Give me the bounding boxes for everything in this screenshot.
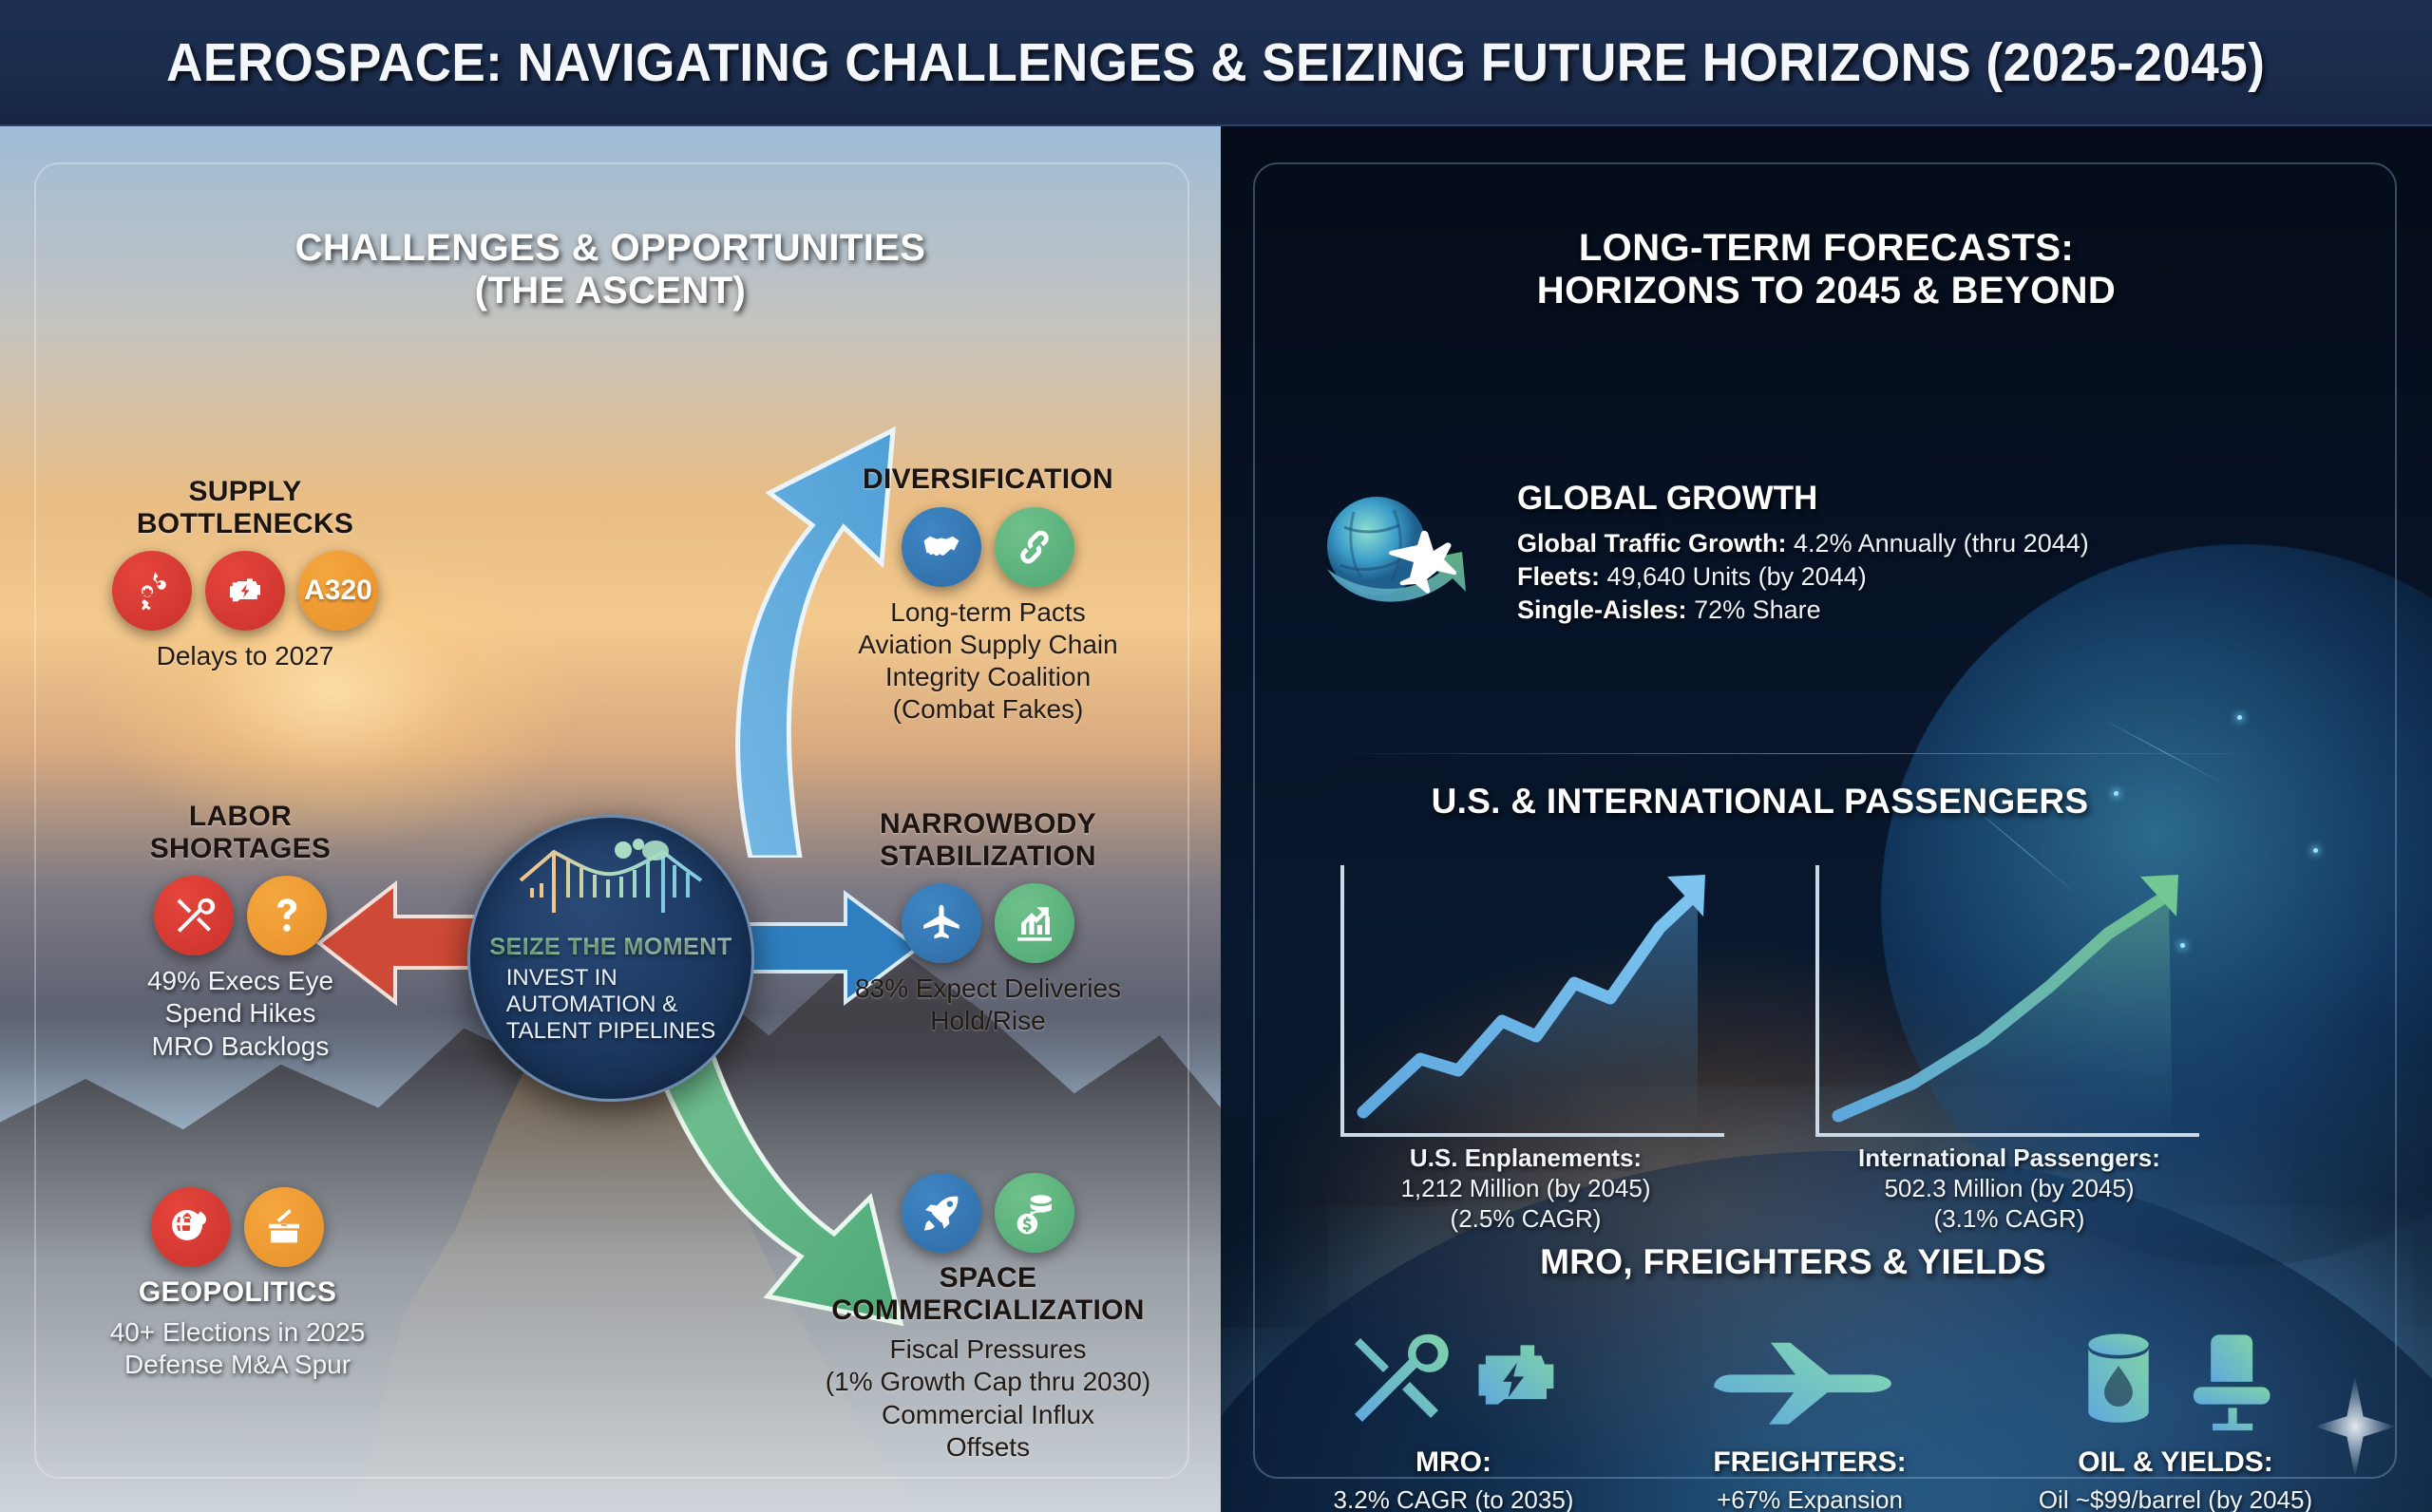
stat-single-aisles: Single-Aisles: 72% Share: [1517, 594, 2089, 627]
supply-bottlenecks-text: Delays to 2027: [46, 640, 445, 672]
stat-global-traffic-growth: Global Traffic Growth: 4.2% Annually (th…: [1517, 527, 2089, 560]
supply-bottlenecks-icons: A320: [46, 551, 445, 631]
right-panel: LONG-TERM FORECASTS: HORIZONS TO 2045 & …: [1221, 126, 2432, 1512]
oil-barrel-icon: [2065, 1327, 2172, 1433]
cargo-airplane-icon: [1703, 1327, 1916, 1433]
international-passengers-chart: [1800, 858, 2209, 1171]
us-enplanements-chart: [1325, 858, 1734, 1171]
right-panel-heading: LONG-TERM FORECASTS: HORIZONS TO 2045 & …: [1221, 227, 2432, 312]
block-diversification: DIVERSIFICATION Long-term Pacts Aviation…: [817, 463, 1159, 726]
right-heading-line1: LONG-TERM FORECASTS:: [1221, 227, 2432, 270]
header-bar: AEROSPACE: NAVIGATING CHALLENGES & SEIZI…: [0, 0, 2432, 126]
narrowbody-text: 83% Expect Deliveries Hold/Rise: [817, 973, 1159, 1037]
global-growth-stats: GLOBAL GROWTH Global Traffic Growth: 4.2…: [1517, 480, 2089, 627]
diversification-title: DIVERSIFICATION: [817, 463, 1159, 496]
globe-airplane-growth-icon: [1316, 478, 1496, 639]
oil-yields-icons: [2019, 1314, 2332, 1446]
mro-title: MRO:: [1297, 1446, 1610, 1479]
airplane-icon: [902, 883, 981, 963]
oil-yields-text: Oil ~$99/barrel (by 2045) Load Factors ~…: [2019, 1484, 2332, 1512]
handshake-icon: [902, 507, 981, 587]
block-labor-shortages: LABOR SHORTAGES 49% Execs Eye Spend Hike…: [36, 801, 445, 1063]
column-oil-yields: OIL & YIELDS: Oil ~$99/barrel (by 2045) …: [2019, 1314, 2332, 1512]
block-supply-bottlenecks: SUPPLY BOTTLENECKS A320 Delays to 2027: [46, 476, 445, 672]
us-enplanements-label: U.S. Enplanements: 1,212 Million (by 204…: [1302, 1143, 1749, 1235]
globe-fire-icon: [151, 1187, 231, 1267]
narrowbody-title: NARROWBODY STABILIZATION: [817, 808, 1159, 872]
question-mark-icon: [247, 876, 327, 955]
left-heading-line2: (THE ASCENT): [0, 270, 1221, 312]
panels-container: CHALLENGES & OPPORTUNITIES (THE ASCENT): [0, 126, 2432, 1512]
left-panel: CHALLENGES & OPPORTUNITIES (THE ASCENT): [0, 126, 1221, 1512]
labor-shortages-text: 49% Execs Eye Spend Hikes MRO Backlogs: [36, 965, 445, 1062]
airline-seat-icon: [2181, 1328, 2286, 1432]
left-heading-line1: CHALLENGES & OPPORTUNITIES: [0, 227, 1221, 270]
freighters-text: +67% Expansion to 3,975 Units (Half Repl…: [1653, 1484, 1966, 1512]
diversification-text: Long-term Pacts Aviation Supply Chain In…: [817, 596, 1159, 727]
space-text: Fiscal Pressures (1% Growth Cap thru 203…: [803, 1333, 1173, 1464]
supply-bottlenecks-title: SUPPLY BOTTLENECKS: [46, 476, 445, 539]
rocket-icon: [902, 1173, 981, 1253]
bar-chart-up-icon: [995, 883, 1074, 963]
page-title: AEROSPACE: NAVIGATING CHALLENGES & SEIZI…: [166, 31, 2265, 94]
hub-title: SEIZE THE MOMENT: [489, 934, 731, 961]
space-title: SPACE COMMERCIALIZATION: [803, 1262, 1173, 1326]
block-geopolitics: GEOPOLITICS 40+ Elections in 2025 Defens…: [28, 1176, 446, 1381]
mro-text: 3.2% CAGR (to 2035) Engines 53% Share: [1297, 1484, 1610, 1512]
space-icons: [803, 1173, 1173, 1253]
narrowbody-icons: [817, 883, 1159, 963]
wrench-screwdriver-icon: [154, 876, 234, 955]
a320-badge: A320: [298, 551, 378, 631]
passengers-heading: U.S. & INTERNATIONAL PASSENGERS: [1221, 782, 2365, 822]
center-hub[interactable]: SEIZE THE MOMENT INVEST IN AUTOMATION & …: [467, 815, 754, 1102]
labor-shortages-icons: [36, 876, 445, 955]
bridge-icon: [511, 839, 711, 930]
global-growth-title: GLOBAL GROWTH: [1517, 480, 2089, 518]
geopolitics-text: 40+ Elections in 2025 Defense M&A Spur: [28, 1316, 446, 1381]
wrench-screwdriver-icon: [1339, 1323, 1453, 1437]
block-space-commercialization: SPACE COMMERCIALIZATION Fiscal Pressures…: [803, 1162, 1173, 1464]
stat-fleets: Fleets: 49,640 Units (by 2044): [1517, 560, 2089, 594]
column-freighters: FREIGHTERS: +67% Expansion to 3,975 Unit…: [1653, 1314, 1966, 1512]
hub-subtitle: INVEST IN AUTOMATION & TALENT PIPELINES: [506, 965, 716, 1044]
network-node: [2313, 848, 2318, 853]
right-heading-line2: HORIZONS TO 2045 & BEYOND: [1221, 270, 2432, 312]
international-passengers-label: International Passengers: 502.3 Million …: [1772, 1143, 2247, 1235]
freighters-icons: [1653, 1314, 1966, 1446]
mro-freighters-yields-heading: MRO, FREIGHTERS & YIELDS: [1221, 1242, 2399, 1282]
freighters-title: FREIGHTERS:: [1653, 1446, 1966, 1479]
diversification-icons: [817, 507, 1159, 587]
column-mro: MRO: 3.2% CAGR (to 2035) Engines 53% Sha…: [1297, 1314, 1610, 1512]
geopolitics-icons: [28, 1187, 446, 1267]
block-narrowbody-stabilization: NARROWBODY STABILIZATION 83% Expect Deli…: [817, 808, 1159, 1038]
oil-yields-title: OIL & YIELDS:: [2019, 1446, 2332, 1479]
chain-link-icon: [995, 507, 1074, 587]
coins-dollar-icon: [995, 1173, 1074, 1253]
broken-gears-icon: [112, 551, 192, 631]
network-node: [2237, 715, 2242, 720]
mro-icons: [1297, 1314, 1610, 1446]
section-divider: [1325, 753, 2294, 754]
engine-bolt-icon: [205, 551, 285, 631]
geopolitics-title: GEOPOLITICS: [28, 1276, 446, 1309]
left-panel-heading: CHALLENGES & OPPORTUNITIES (THE ASCENT): [0, 227, 1221, 312]
infographic-page: AEROSPACE: NAVIGATING CHALLENGES & SEIZI…: [0, 0, 2432, 1512]
engine-bolt-icon: [1463, 1328, 1567, 1432]
labor-shortages-title: LABOR SHORTAGES: [36, 801, 445, 864]
ballot-box-icon: [244, 1187, 324, 1267]
